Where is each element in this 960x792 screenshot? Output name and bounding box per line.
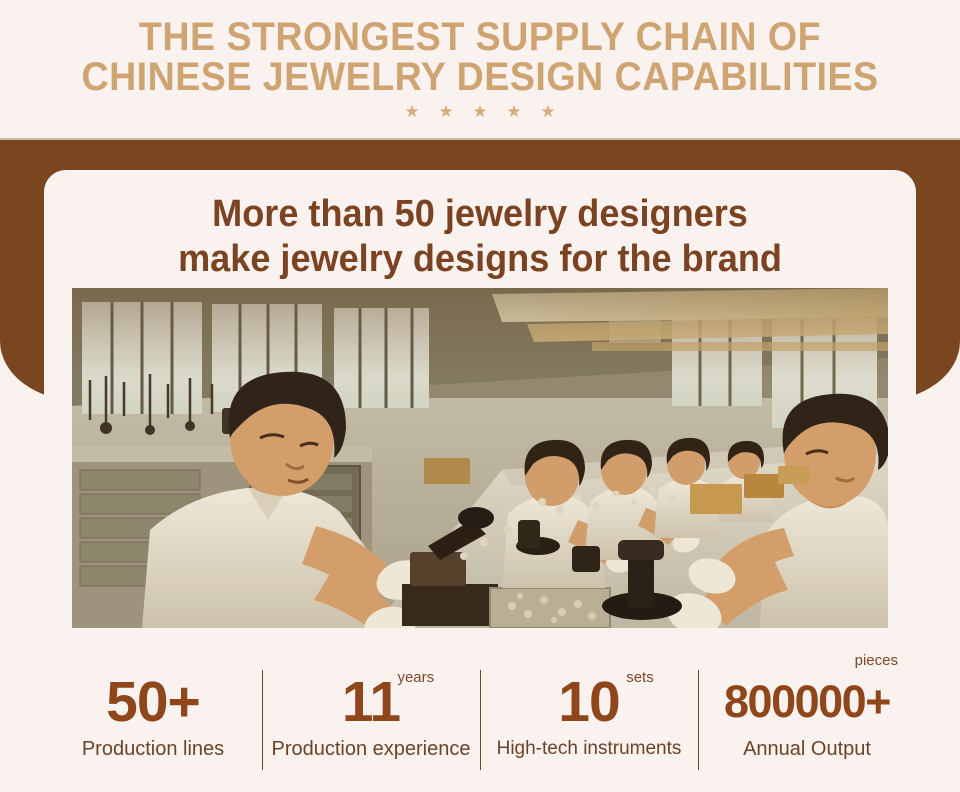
stats-row: 50+ Production lines 11 years Production…: [44, 662, 916, 792]
workshop-photo: [72, 288, 888, 628]
stat-value-wrap: 50+: [106, 672, 200, 732]
panel-heading-line-1: More than 50 jewelry designers: [66, 192, 894, 237]
stat-unit: sets: [626, 670, 654, 685]
star-rating-icon: ★ ★ ★ ★ ★: [0, 103, 960, 120]
header-banner: THE STRONGEST SUPPLY CHAIN OF CHINESE JE…: [0, 0, 960, 138]
stat-high-tech-instruments: 10 sets High-tech instruments: [480, 662, 698, 761]
stat-value: 11: [342, 672, 400, 732]
band-top-rule: [0, 138, 960, 140]
stat-value-wrap: 10 sets: [558, 672, 619, 732]
stat-production-experience: 11 years Production experience: [262, 662, 480, 761]
stat-value-wrap: 11 years: [342, 672, 400, 732]
stat-label: High-tech instruments: [480, 737, 698, 761]
stat-label: Production lines: [44, 737, 262, 761]
panel-heading-line-2: make jewelry designs for the brand: [66, 237, 894, 282]
stat-production-lines: 50+ Production lines: [44, 662, 262, 761]
stat-unit: years: [397, 670, 434, 685]
stat-label: Production experience: [262, 737, 480, 761]
page-title: THE STRONGEST SUPPLY CHAIN OF CHINESE JE…: [29, 0, 931, 97]
stat-unit: pieces: [855, 653, 898, 668]
workshop-photo-illustration: [72, 288, 888, 628]
page-title-line-2: CHINESE JEWELRY DESIGN CAPABILITIES: [29, 57, 931, 97]
stat-value: 800000+: [724, 672, 890, 732]
stat-value: 50+: [106, 672, 200, 732]
page-title-line-1: THE STRONGEST SUPPLY CHAIN OF: [139, 15, 821, 59]
stat-value: 10: [558, 672, 619, 732]
content-panel: More than 50 jewelry designers make jewe…: [44, 170, 916, 792]
stat-annual-output: 800000+ pieces Annual Output: [698, 662, 916, 761]
stat-value-wrap: 800000+ pieces: [724, 672, 890, 732]
stat-label: Annual Output: [698, 737, 916, 761]
panel-heading: More than 50 jewelry designers make jewe…: [66, 170, 894, 282]
